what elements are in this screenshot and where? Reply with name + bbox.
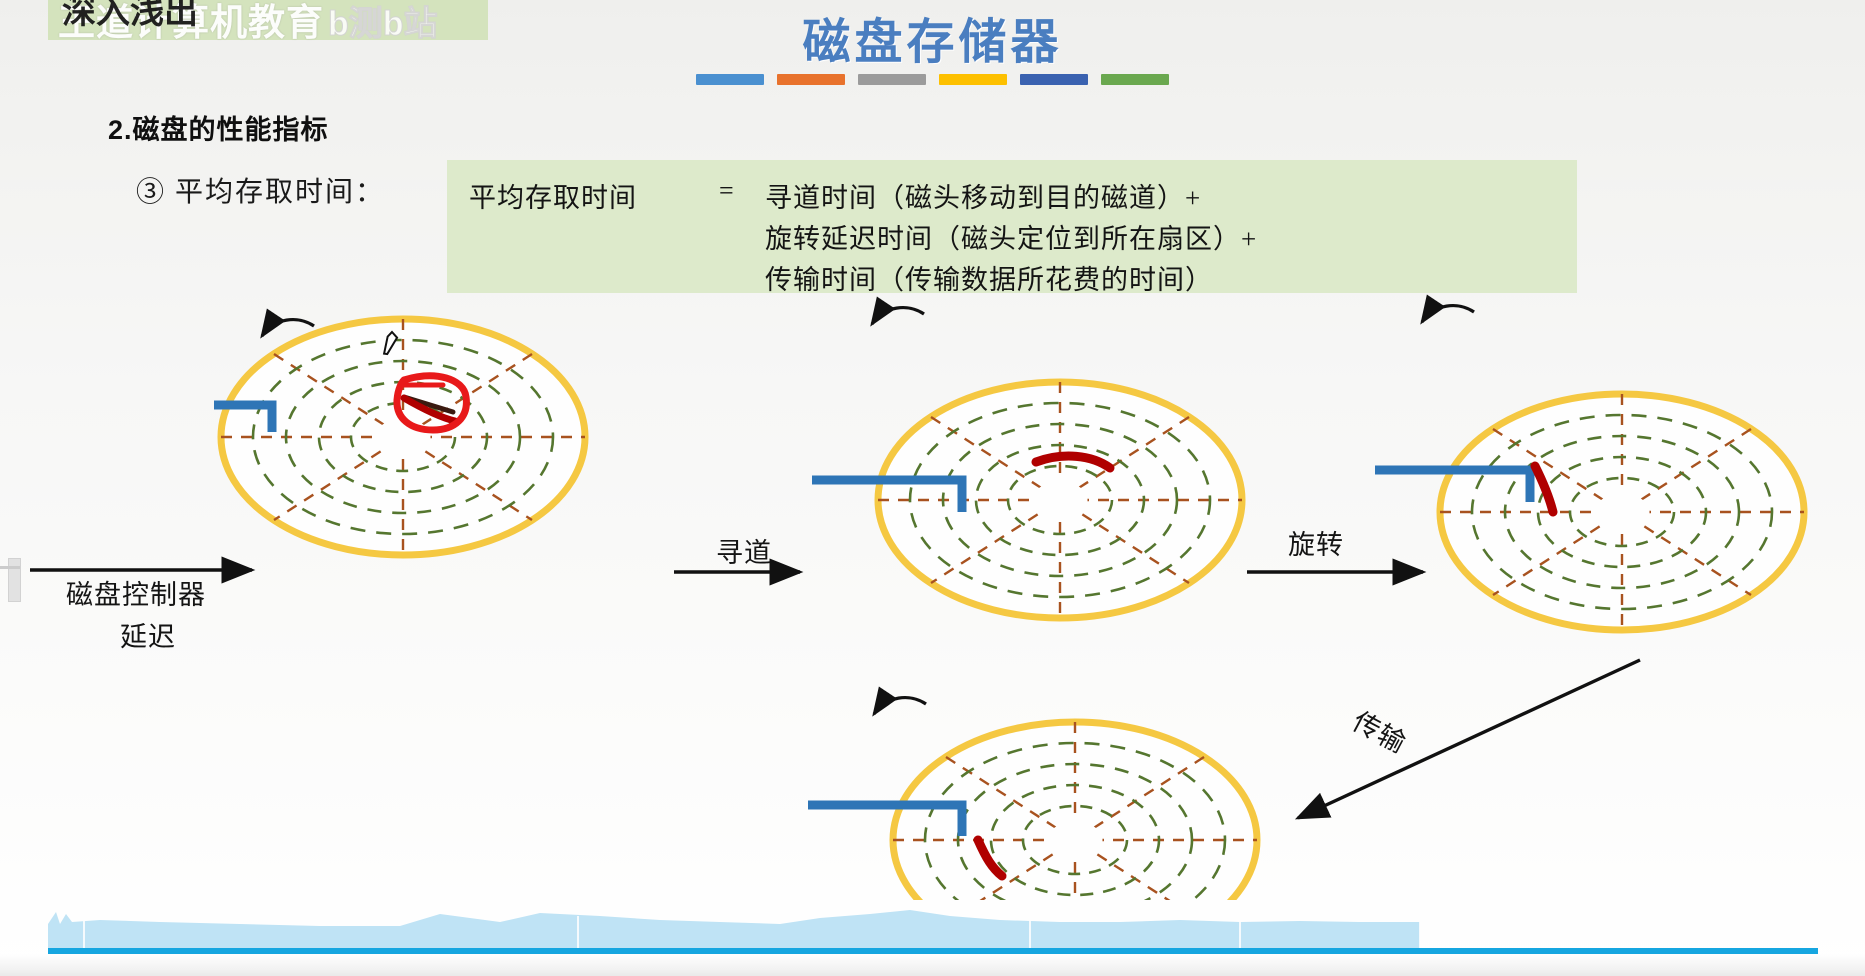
video-player-bar[interactable] bbox=[0, 890, 1865, 976]
platter-3-after-rotate bbox=[1375, 306, 1804, 630]
label-controller-delay-line2: 延迟 bbox=[120, 615, 176, 654]
player-bar-background bbox=[0, 954, 1865, 976]
label-rotate: 旋转 bbox=[1288, 523, 1344, 562]
scrubber-track[interactable] bbox=[0, 566, 20, 569]
label-controller-delay-line1: 磁盘控制器 bbox=[66, 573, 206, 612]
platter-2-after-seek bbox=[812, 308, 1242, 618]
disk-process-diagram bbox=[0, 0, 1865, 900]
slide-canvas: 王道计算机教育 b测b站 深入浅出 磁盘存储器 2.磁盘的性能指标 ③ 平均存取… bbox=[0, 0, 1865, 976]
label-seek: 寻道 bbox=[716, 531, 772, 570]
platter-4-after-transfer bbox=[808, 698, 1257, 900]
platter-1-initial bbox=[214, 319, 585, 555]
audio-waveform[interactable] bbox=[0, 900, 1420, 950]
arrow-transfer bbox=[1298, 660, 1640, 818]
scrubber-handle[interactable] bbox=[8, 558, 21, 602]
